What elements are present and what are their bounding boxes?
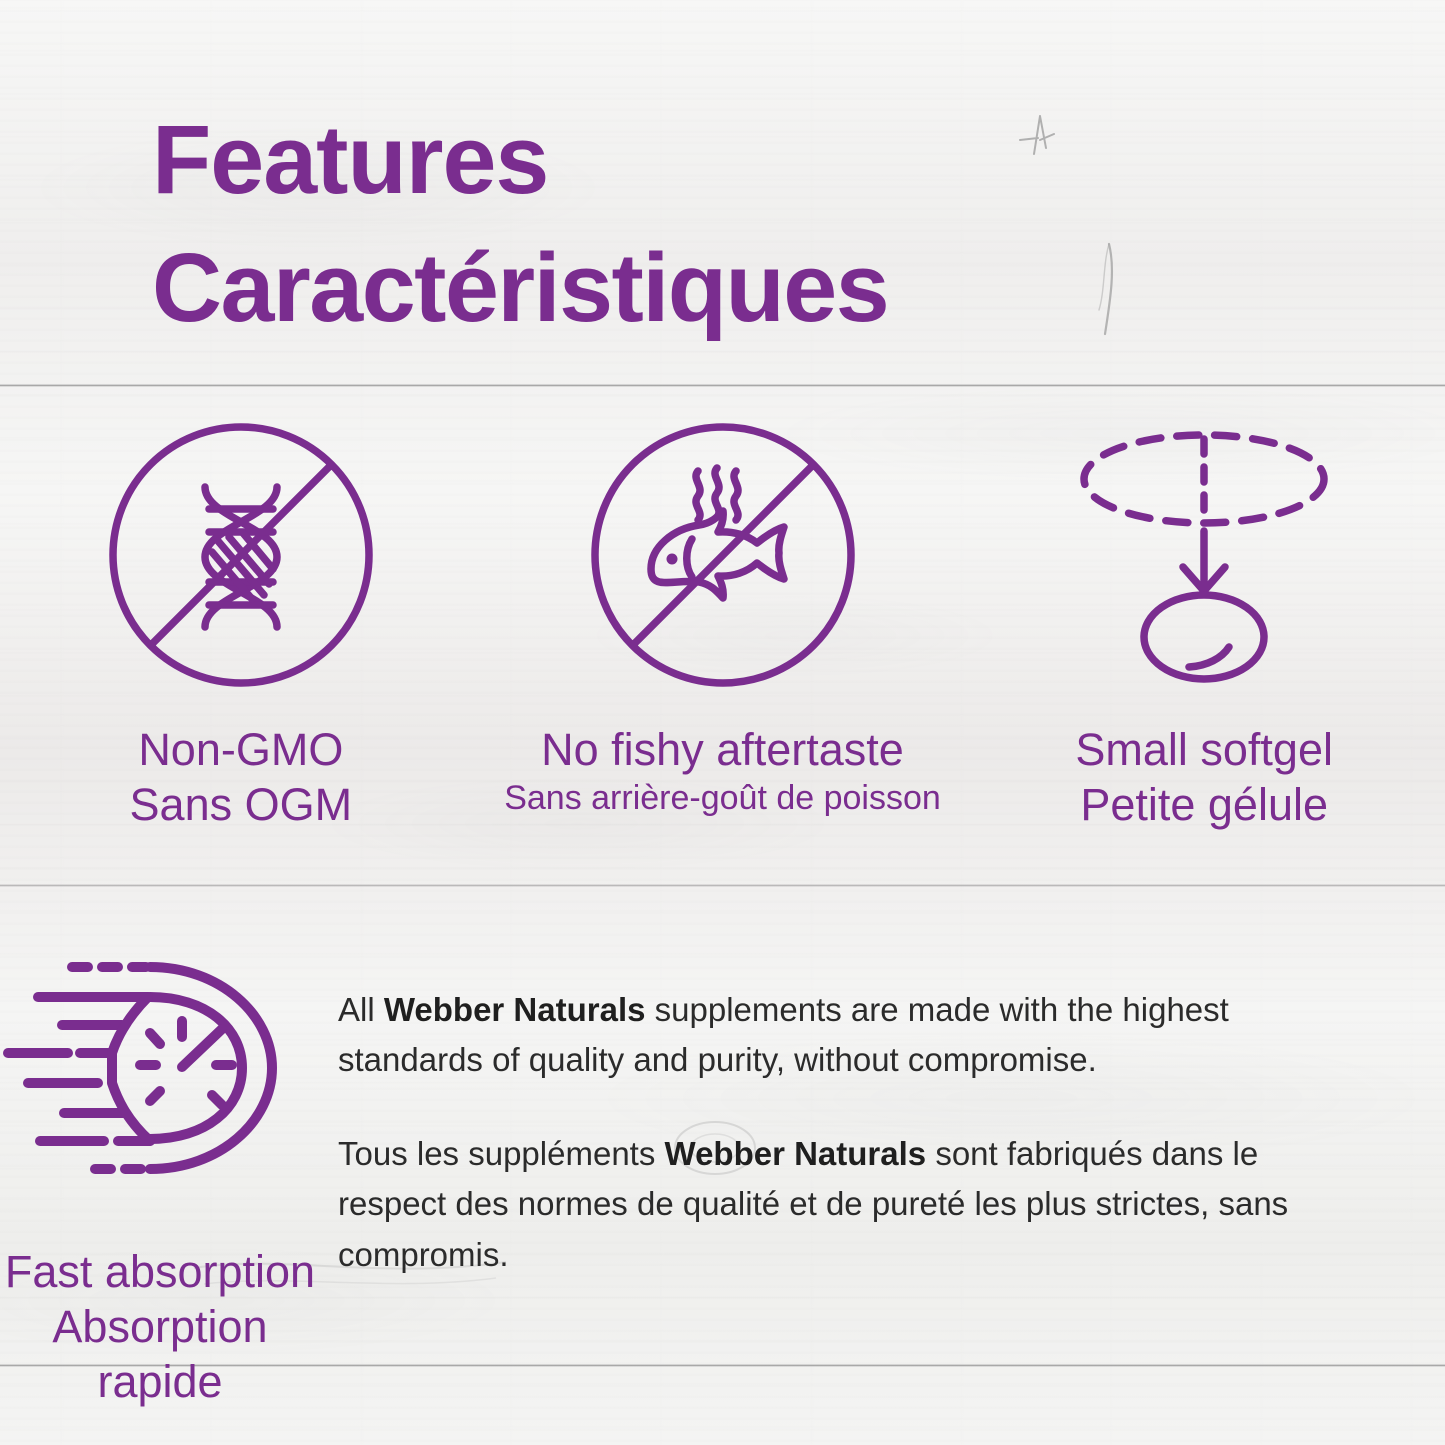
feature-label-fr: Absorption rapide [0, 1300, 320, 1410]
features-infographic: Features Caractéristiques [0, 0, 1445, 1445]
feature-small-softgel: Small softgel Petite gélule [963, 405, 1445, 865]
small-softgel-icon [1059, 405, 1349, 705]
feature-caption: Small softgel Petite gélule [1075, 723, 1333, 833]
brand-name-fr: Webber Naturals [665, 1135, 927, 1172]
para-en-before: All [338, 991, 384, 1028]
feature-row: Non-GMO Sans OGM [0, 405, 1445, 865]
feature-label-en: No fishy aftertaste [504, 723, 941, 778]
bottom-section: Fast absorption Absorption rapide All We… [0, 915, 1445, 1365]
brand-name-en: Webber Naturals [384, 991, 646, 1028]
feature-label-fr: Sans arrière-goût de poisson [504, 778, 941, 819]
feature-non-gmo: Non-GMO Sans OGM [0, 405, 482, 865]
feature-label-en: Small softgel [1075, 723, 1333, 778]
feature-caption: Fast absorption Absorption rapide [0, 1245, 320, 1410]
para-fr-before: Tous les suppléments [338, 1135, 665, 1172]
page-title-fr: Caractéristiques [152, 224, 1152, 352]
quality-paragraph-en: All Webber Naturals supplements are made… [338, 985, 1325, 1085]
feature-caption: No fishy aftertaste Sans arrière-goût de… [504, 723, 941, 819]
feature-no-fishy-aftertaste: No fishy aftertaste Sans arrière-goût de… [482, 405, 964, 865]
no-gmo-dna-icon [105, 405, 377, 705]
quality-statement: All Webber Naturals supplements are made… [320, 915, 1445, 1365]
no-fishy-aftertaste-fish-icon [587, 405, 859, 705]
feature-fast-absorption: Fast absorption Absorption rapide [0, 915, 320, 1365]
fast-absorption-speed-clock-icon [0, 953, 320, 1183]
feature-label-fr: Petite gélule [1075, 778, 1333, 833]
quality-paragraph-fr: Tous les suppléments Webber Naturals son… [338, 1129, 1325, 1279]
page-title-en: Features [152, 96, 1152, 224]
feature-label-en: Non-GMO [130, 723, 353, 778]
feature-label-fr: Sans OGM [130, 778, 353, 833]
feature-caption: Non-GMO Sans OGM [130, 723, 353, 833]
page-title: Features Caractéristiques [152, 96, 1152, 352]
feature-label-en: Fast absorption [0, 1245, 320, 1300]
